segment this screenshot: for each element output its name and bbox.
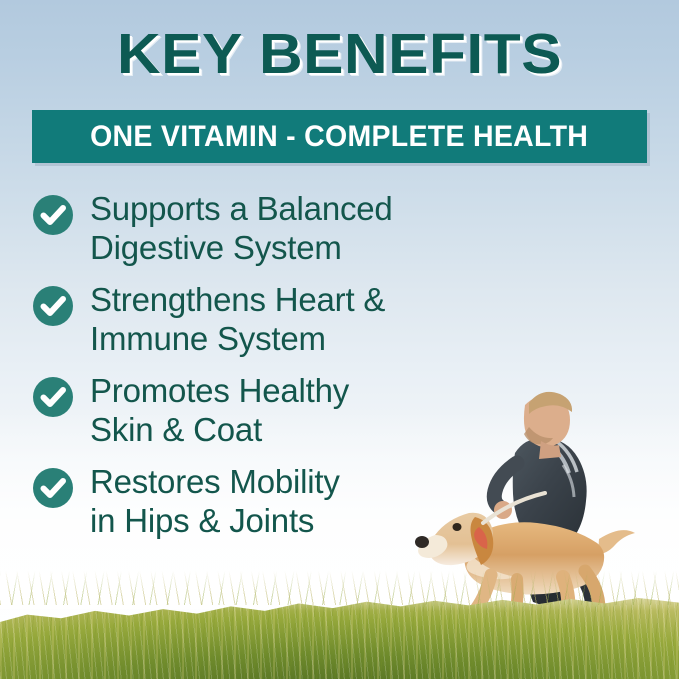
- benefit-text: Restores Mobility in Hips & Joints: [90, 463, 340, 541]
- subtitle-banner: ONE VITAMIN - COMPLETE HEALTH: [32, 110, 647, 163]
- list-item: Promotes Healthy Skin & Coat: [32, 372, 462, 450]
- running-man: [494, 392, 594, 631]
- benefit-text: Strengthens Heart & Immune System: [90, 281, 385, 359]
- list-item: Restores Mobility in Hips & Joints: [32, 463, 462, 541]
- benefit-line-2: Skin & Coat: [90, 411, 349, 450]
- benefit-line-1: Promotes Healthy: [90, 372, 349, 411]
- grass-tip-texture: [0, 571, 679, 605]
- benefits-list: Supports a Balanced Digestive System Str…: [32, 190, 462, 554]
- key-benefits-poster: KEY BENEFITS ONE VITAMIN - COMPLETE HEAL…: [0, 0, 679, 679]
- benefit-text: Supports a Balanced Digestive System: [90, 190, 393, 268]
- list-item: Supports a Balanced Digestive System: [32, 190, 462, 268]
- benefit-line-1: Restores Mobility: [90, 463, 340, 502]
- list-item: Strengthens Heart & Immune System: [32, 281, 462, 359]
- benefit-line-2: in Hips & Joints: [90, 502, 340, 541]
- benefit-line-2: Immune System: [90, 320, 385, 359]
- page-title: KEY BENEFITS: [0, 26, 679, 83]
- grass-blade-texture: [0, 587, 679, 679]
- check-circle-icon: [32, 376, 74, 418]
- benefit-line-1: Supports a Balanced: [90, 190, 393, 229]
- check-circle-icon: [32, 285, 74, 327]
- subtitle-banner-label: ONE VITAMIN - COMPLETE HEALTH: [90, 120, 588, 154]
- grass-field: [0, 587, 679, 679]
- check-circle-icon: [32, 194, 74, 236]
- benefit-line-1: Strengthens Heart &: [90, 281, 385, 320]
- benefit-line-2: Digestive System: [90, 229, 393, 268]
- check-circle-icon: [32, 467, 74, 509]
- benefit-text: Promotes Healthy Skin & Coat: [90, 372, 349, 450]
